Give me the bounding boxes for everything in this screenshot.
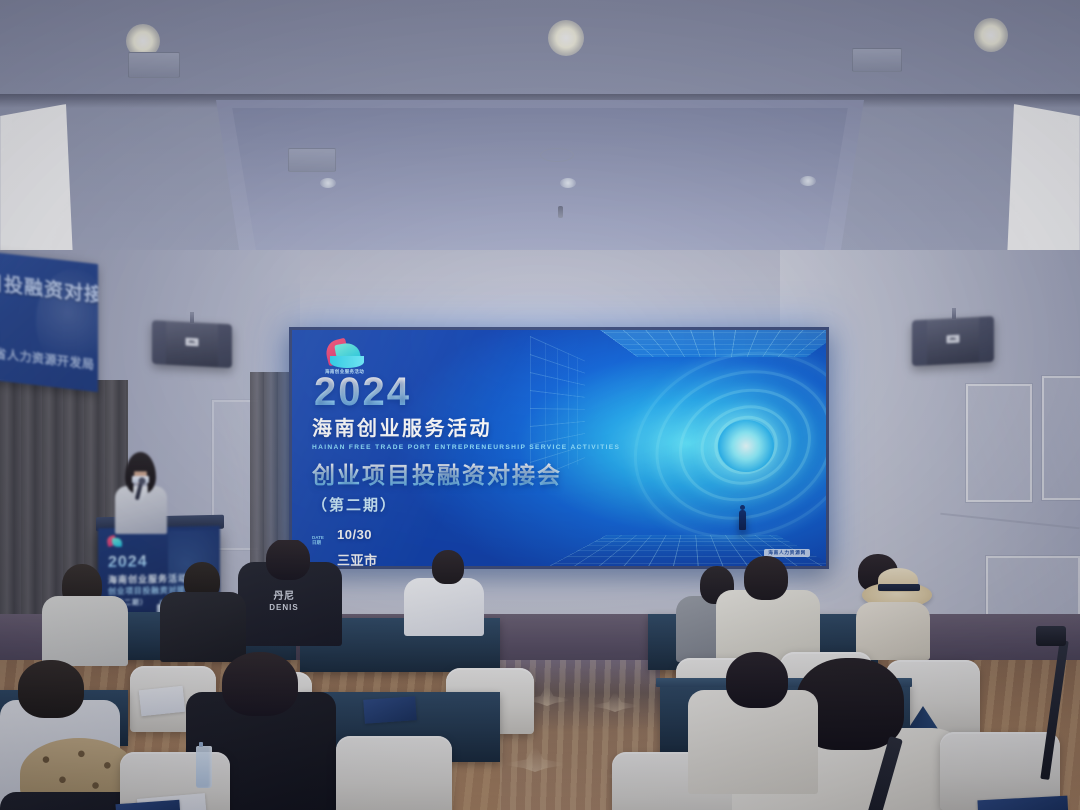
- jbl-logo-right: JBL: [947, 335, 960, 344]
- hanging-banner-line1: 目投融资对接会: [0, 267, 98, 310]
- ceiling-vent-right: [852, 48, 902, 72]
- attendee-right-hoodie-head: [726, 652, 788, 708]
- cove-downlight-3: [800, 176, 816, 186]
- ceiling-vent-left: [128, 52, 180, 78]
- event-year: 2024: [314, 374, 612, 411]
- hanging-banner-left: 目投融资对接会 南省人力资源开发局: [0, 252, 98, 392]
- logo-swoosh-base: [330, 356, 364, 368]
- conference-hall-photo: 目投融资对接会 南省人力资源开发局 JBL JBL: [0, 0, 1080, 810]
- polo-text-en: DENIS: [269, 603, 298, 612]
- wall-panel-right-2: [1042, 376, 1080, 500]
- presenter-at-podium: [113, 448, 169, 534]
- led-display-screen: 海南创业服务活动 2024 海南创业服务活动 HAINAN FREE TRADE…: [289, 327, 829, 569]
- attendee-front-center-head: [222, 652, 298, 716]
- handout-folder-1[interactable]: [363, 696, 417, 724]
- attendee-back-white-shirt: [404, 578, 484, 636]
- cove-ring-light: [540, 148, 574, 162]
- ceiling-outer-band: [0, 0, 1080, 100]
- event-title-en: HAINAN FREE TRADE PORT ENTREPRENEURSHIP …: [312, 444, 612, 451]
- water-bottle-table[interactable]: [196, 746, 212, 788]
- ceiling-sprinkler: [558, 206, 563, 218]
- cove-vent: [288, 148, 336, 172]
- wall-speaker-left: JBL: [152, 320, 232, 368]
- audience-area: 丹尼 DENIS: [0, 540, 1080, 810]
- cove-downlight-2: [560, 178, 576, 188]
- attendee-back-white-shirt-head: [432, 550, 464, 584]
- wall-panel-right-1: [966, 384, 1032, 502]
- straw-hat-band: [878, 584, 920, 591]
- event-title-cn-sub: 创业项目投融资对接会: [312, 456, 612, 490]
- attendee-back-left-torso: [42, 596, 128, 666]
- led-text-block: 海南创业服务活动 2024 海南创业服务活动 HAINAN FREE TRADE…: [312, 338, 612, 569]
- camera-body: [1036, 626, 1066, 646]
- ceiling-downlight-2: [548, 20, 584, 56]
- attendee-right-beige-head: [744, 556, 788, 600]
- event-logo-icon: 海南创业服务活动: [324, 338, 370, 372]
- attendee-straw-hat-torso: [856, 602, 930, 660]
- hanging-banner-line2: 南省人力资源开发局: [0, 343, 95, 373]
- polo-text-cn: 丹尼: [274, 591, 295, 602]
- logo-subtitle: 海南创业服务活动: [325, 369, 364, 375]
- attendee-polo-brand-text: 丹尼 DENIS: [236, 592, 332, 613]
- cove-downlight-1: [320, 178, 336, 188]
- attendee-back-navy-head: [266, 540, 310, 580]
- jbl-logo-left: JBL: [186, 338, 199, 347]
- attendee-back-left2-torso: [160, 592, 246, 662]
- event-session-label: （第二期）: [312, 494, 612, 515]
- wall-speaker-right: JBL: [912, 316, 994, 366]
- chair-front-2[interactable]: [336, 736, 452, 810]
- event-title-cn-main: 海南创业服务活动: [312, 412, 612, 441]
- handout-paper-1[interactable]: [139, 686, 185, 716]
- attendee-front-left-head: [18, 660, 84, 718]
- ceiling-downlight-3: [974, 18, 1008, 52]
